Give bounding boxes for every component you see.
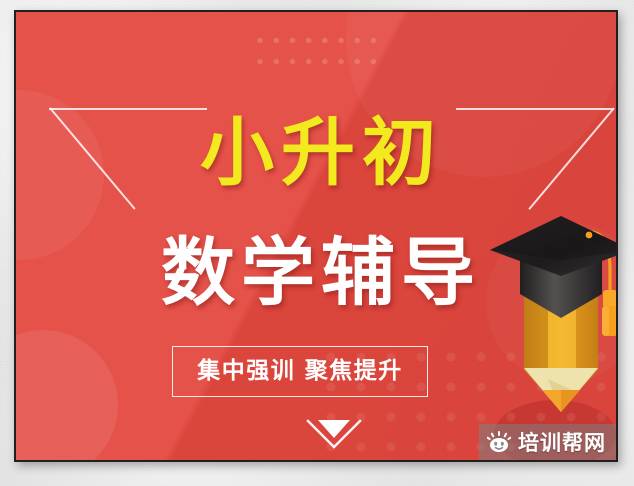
watermark-label: 培训帮网 <box>518 427 606 457</box>
bracket-right-horizontal <box>456 108 614 110</box>
graduation-cap-on-pencil-illustration <box>486 198 618 446</box>
sun-face-icon <box>487 431 511 453</box>
graduation-cap-icon <box>490 216 618 318</box>
dot-grid-top <box>252 30 382 80</box>
poster-root: 小升初 数学辅导 集中强训 聚焦提升 <box>0 0 634 486</box>
poster-title-main: 小升初 <box>16 116 618 190</box>
tagline-box: 集中强训 聚焦提升 <box>172 346 428 397</box>
decorative-circle-left-bottom <box>14 330 118 462</box>
red-banner-card: 小升初 数学辅导 集中强训 聚焦提升 <box>14 10 618 462</box>
chevron-down-icon <box>305 416 363 454</box>
tagline-text: 集中强训 聚焦提升 <box>197 360 403 383</box>
bracket-left-horizontal <box>49 108 207 110</box>
watermark: 培训帮网 <box>479 424 616 460</box>
